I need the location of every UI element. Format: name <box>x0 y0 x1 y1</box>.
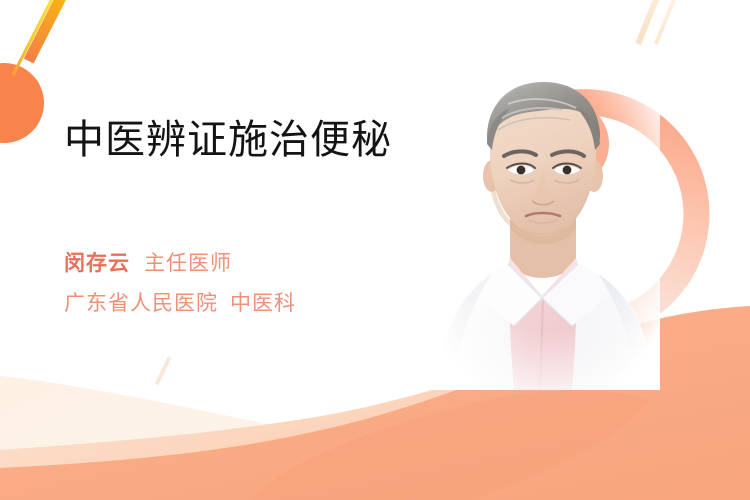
page-title: 中医辨证施治便秘 <box>64 117 392 163</box>
diagonal-stripe-top-right-a <box>635 0 662 45</box>
department-name: 中医科 <box>230 292 296 315</box>
video-cover-card: 中医辨证施治便秘 闵存云主任医师 广东省人民医院中医科 <box>0 0 750 500</box>
byline-row-affiliation: 广东省人民医院中医科 <box>64 285 296 325</box>
diagonal-stripe-top-left-thick <box>24 0 76 63</box>
hospital-name: 广东省人民医院 <box>64 292 218 315</box>
orange-circle-decoration <box>0 63 44 143</box>
diagonal-stripe-top-left-thin <box>12 0 59 75</box>
doctor-title: 主任医师 <box>144 252 232 275</box>
doctor-portrait <box>430 60 660 390</box>
doctor-name: 闵存云 <box>64 252 130 275</box>
byline-row-doctor: 闵存云主任医师 <box>64 245 296 285</box>
diagonal-stripe-bottom-left <box>155 357 172 386</box>
diagonal-stripe-top-right-b <box>654 0 678 45</box>
byline-block: 闵存云主任医师 广东省人民医院中医科 <box>64 245 296 325</box>
